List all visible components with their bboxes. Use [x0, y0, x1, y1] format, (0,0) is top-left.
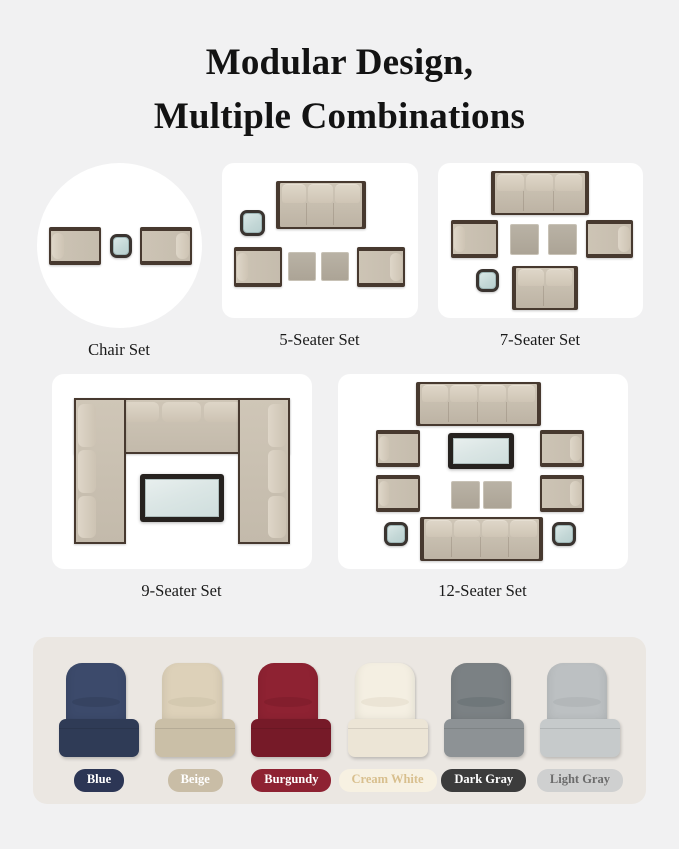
color-options-panel: Blue Beige Burgundy Cream	[33, 637, 646, 804]
configuration-label: 9-Seater Set	[141, 581, 221, 601]
cushion-preview	[538, 663, 622, 761]
seat-cushion	[155, 719, 235, 757]
back-cushion	[547, 663, 607, 727]
configuration-label: Chair Set	[88, 340, 150, 360]
seat-cushion	[444, 719, 524, 757]
back-cushion	[355, 663, 415, 727]
color-label: Blue	[74, 769, 124, 792]
configuration-5-seater-set[interactable]: 5-Seater Set	[222, 163, 418, 350]
color-swatch-list: Blue Beige Burgundy Cream	[33, 637, 646, 804]
configuration-label: 12-Seater Set	[438, 581, 526, 601]
color-swatch-dark-gray[interactable]: Dark Gray	[440, 663, 528, 792]
configuration-label: 7-Seater Set	[500, 330, 580, 350]
side-table-icon	[552, 522, 576, 546]
cushion-preview	[153, 663, 237, 761]
color-label: Beige	[168, 769, 223, 792]
side-table-icon	[110, 234, 132, 258]
layout-diagram-7-seater-set	[438, 163, 643, 318]
loveseat-2-seat-icon	[512, 266, 578, 310]
layout-diagram-9-seater-set	[52, 374, 312, 569]
cushion-preview	[346, 663, 430, 761]
heading-line-2: Multiple Combinations	[0, 90, 679, 144]
chair-icon	[451, 220, 498, 258]
sofa-4-seat-icon	[420, 517, 543, 561]
chair-icon	[376, 475, 420, 512]
sofa-3-seat-icon	[491, 171, 589, 215]
configuration-label: 5-Seater Set	[279, 330, 359, 350]
color-label: Burgundy	[251, 769, 331, 792]
color-swatch-burgundy[interactable]: Burgundy	[247, 663, 335, 792]
chair-icon	[586, 220, 633, 258]
seat-cushion	[540, 719, 620, 757]
color-swatch-cream-white[interactable]: Cream White	[344, 663, 432, 792]
ottoman-icon	[321, 252, 349, 281]
side-table-icon	[476, 269, 499, 292]
chair-icon	[540, 475, 584, 512]
back-cushion	[451, 663, 511, 727]
color-label: Light Gray	[537, 769, 623, 792]
side-table-icon	[384, 522, 408, 546]
sectional-left-run	[74, 398, 126, 544]
cushion-preview	[57, 663, 141, 761]
glass-coffee-table-icon	[448, 433, 514, 469]
ottoman-icon	[548, 224, 577, 255]
heading-block: Modular Design, Multiple Combinations	[0, 0, 679, 143]
back-cushion	[66, 663, 126, 727]
layout-diagram-12-seater-set	[338, 374, 628, 569]
chair-icon	[540, 430, 584, 467]
configuration-row-top: Chair Set 5-Seater Set	[0, 163, 679, 360]
sofa-4-seat-icon	[416, 382, 541, 426]
configuration-12-seater-set[interactable]: 12-Seater Set	[338, 374, 628, 601]
configuration-row-bottom: 9-Seater Set	[0, 374, 679, 601]
color-label: Dark Gray	[441, 769, 526, 792]
ottoman-icon	[451, 481, 480, 509]
side-table-icon	[240, 210, 265, 236]
sectional-right-run	[238, 398, 290, 544]
back-cushion	[258, 663, 318, 727]
color-swatch-beige[interactable]: Beige	[151, 663, 239, 792]
glass-coffee-table-icon	[140, 474, 224, 522]
layout-diagram-chair-set	[37, 163, 202, 328]
heading-line-1: Modular Design,	[0, 36, 679, 90]
ottoman-icon	[510, 224, 539, 255]
seat-cushion	[59, 719, 139, 757]
ottoman-icon	[483, 481, 512, 509]
configuration-9-seater-set[interactable]: 9-Seater Set	[52, 374, 312, 601]
chair-icon	[234, 247, 282, 287]
color-swatch-light-gray[interactable]: Light Gray	[536, 663, 624, 792]
chair-icon	[140, 227, 192, 265]
seat-cushion	[251, 719, 331, 757]
chair-icon	[376, 430, 420, 467]
layout-diagram-5-seater-set	[222, 163, 418, 318]
cushion-preview	[249, 663, 333, 761]
color-swatch-blue[interactable]: Blue	[55, 663, 143, 792]
configuration-chair-set[interactable]: Chair Set	[37, 163, 202, 360]
ottoman-icon	[288, 252, 316, 281]
color-label: Cream White	[339, 769, 437, 792]
chair-icon	[49, 227, 101, 265]
configuration-7-seater-set[interactable]: 7-Seater Set	[438, 163, 643, 350]
seat-cushion	[348, 719, 428, 757]
back-cushion	[162, 663, 222, 727]
sofa-3-seat-icon	[276, 181, 366, 229]
cushion-preview	[442, 663, 526, 761]
chair-icon	[357, 247, 405, 287]
